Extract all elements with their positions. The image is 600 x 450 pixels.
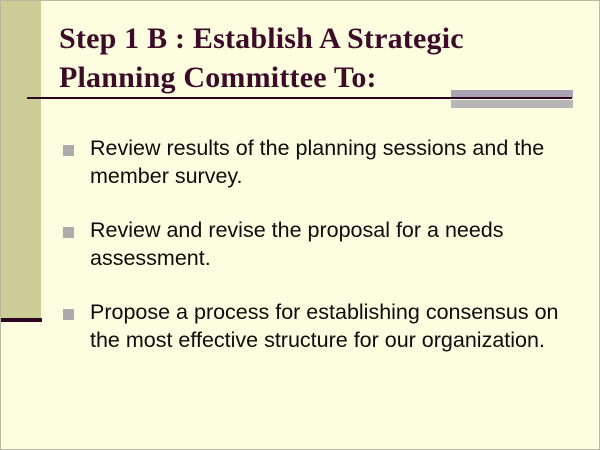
list-item: Review and revise the proposal for a nee… [63, 216, 568, 272]
bullet-text: Propose a process for establishing conse… [90, 298, 568, 354]
list-item: Review results of the planning sessions … [63, 134, 568, 190]
title-accent-bar [451, 90, 573, 108]
bullet-text: Review results of the planning sessions … [90, 134, 568, 190]
square-bullet-icon [63, 309, 74, 320]
slide-title: Step 1 B : Establish A Strategic Plannin… [59, 19, 559, 97]
list-item: Propose a process for establishing conse… [63, 298, 568, 354]
presentation-slide: Step 1 B : Establish A Strategic Plannin… [0, 0, 600, 450]
square-bullet-icon [63, 227, 74, 238]
square-bullet-icon [63, 145, 74, 156]
left-decorative-band [1, 1, 41, 318]
accent-bar-lower [451, 100, 573, 108]
slide-bullet-list: Review results of the planning sessions … [63, 134, 568, 380]
slide-title-area: Step 1 B : Establish A Strategic Plannin… [59, 19, 559, 97]
title-underline-rule [27, 97, 572, 99]
left-band-end-rule [1, 318, 42, 322]
bullet-text: Review and revise the proposal for a nee… [90, 216, 568, 272]
